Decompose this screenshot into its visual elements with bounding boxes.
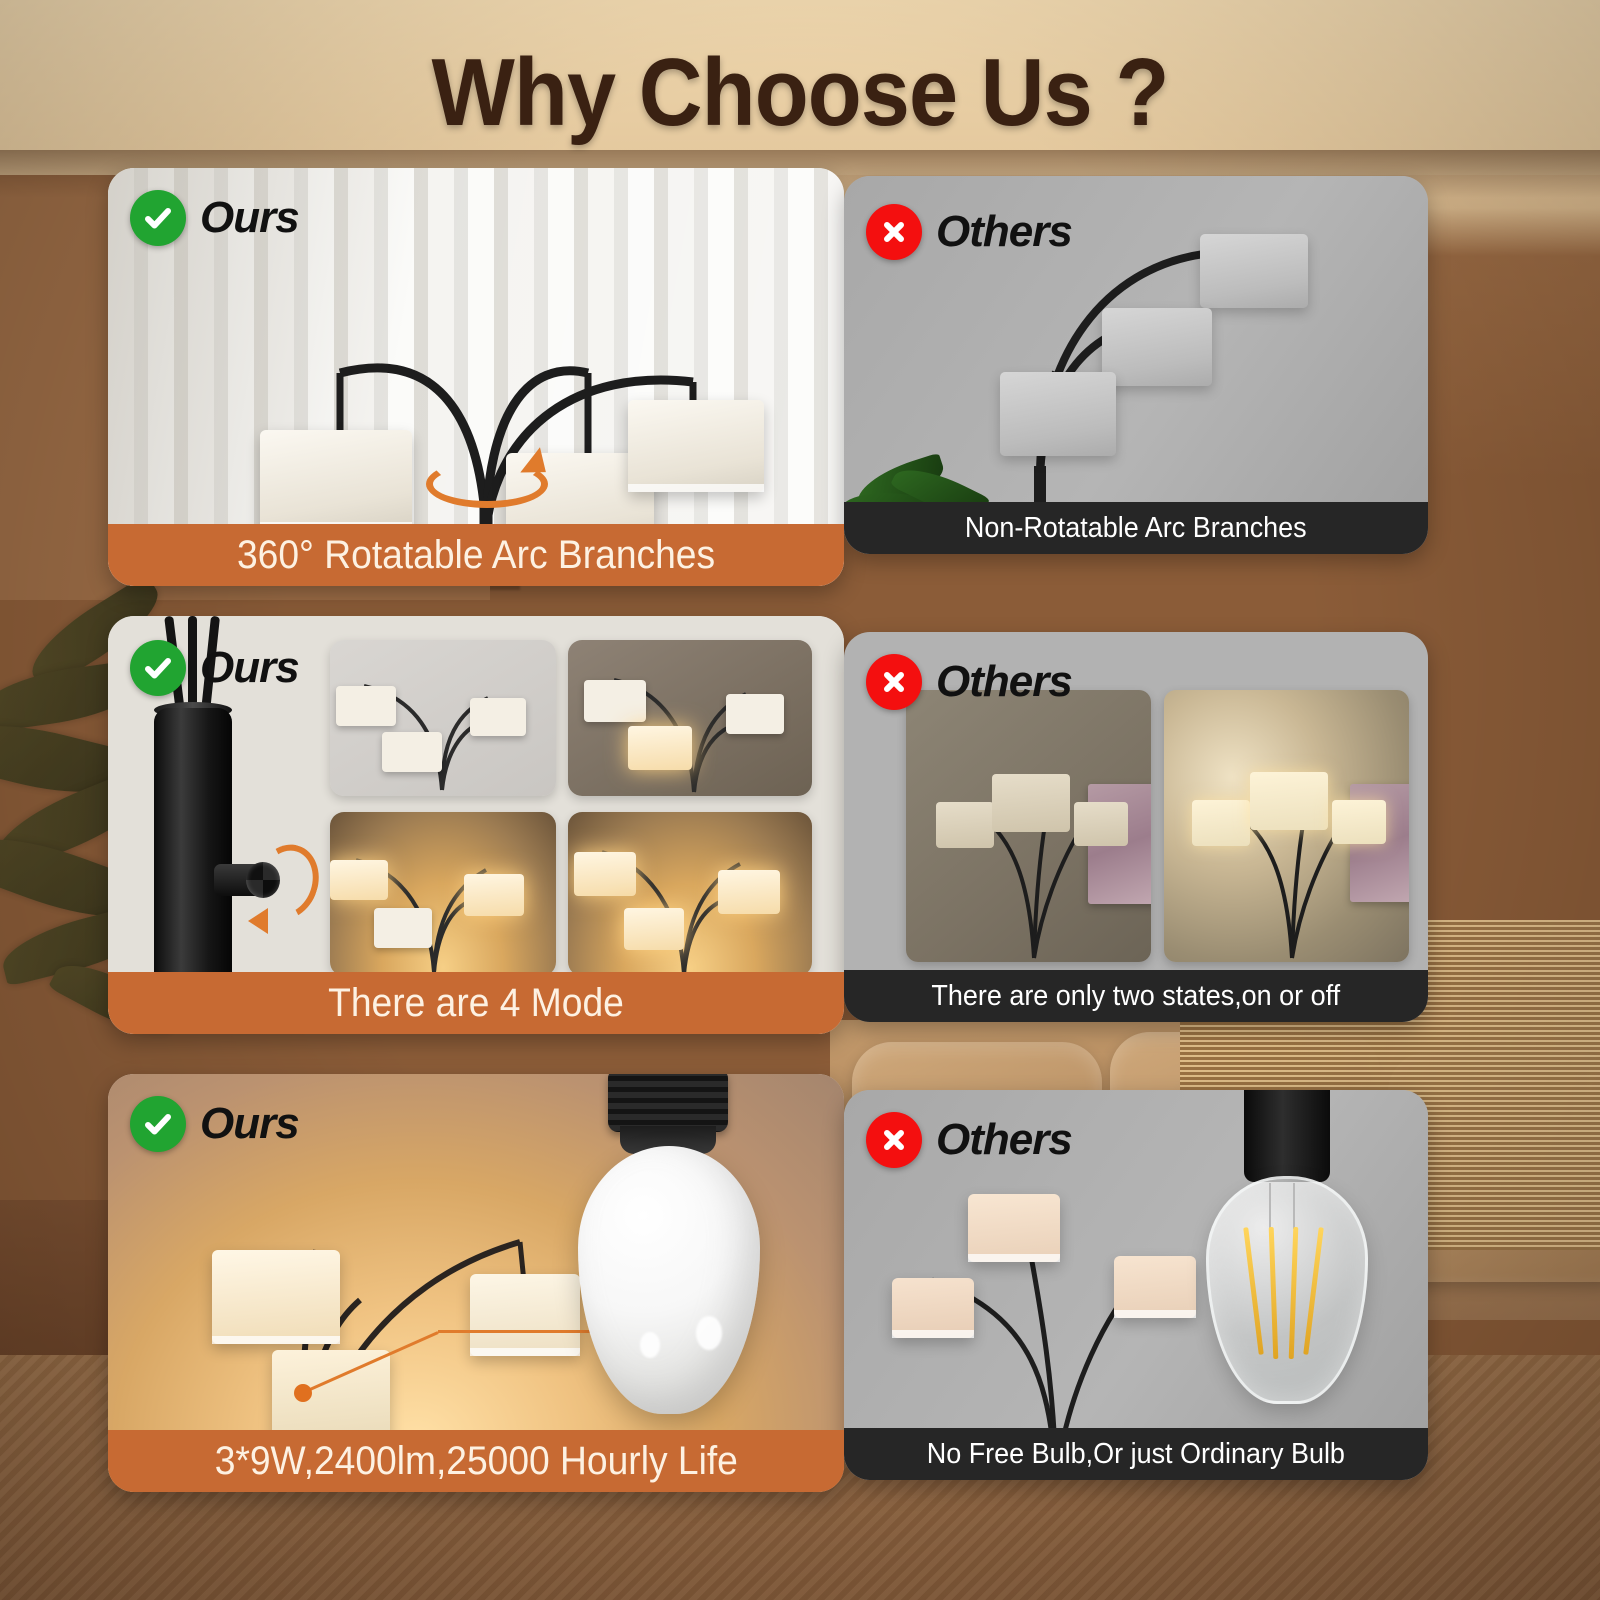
- cross-mark-icon: [866, 1112, 922, 1168]
- lamp-shade: [1114, 1256, 1196, 1318]
- comparison-card-others-bulb: Others No Free Bulb,Or just Ordinary Bul…: [844, 1090, 1428, 1480]
- caption-text: Non-Rotatable Arc Branches: [965, 512, 1307, 545]
- bulb-pointer-dot: [294, 1384, 312, 1402]
- cross-mark-icon: [866, 654, 922, 710]
- caption-ours-rotatable: 360° Rotatable Arc Branches: [108, 524, 844, 586]
- lamp-shade: [1000, 372, 1116, 456]
- badge-others: Others: [866, 1112, 1072, 1168]
- badge-ours: Ours: [130, 640, 299, 696]
- badge-label: Others: [936, 657, 1072, 707]
- caption-ours-bulb: 3*9W,2400lm,25000 Hourly Life: [108, 1430, 844, 1492]
- lamp-shade: [272, 1350, 390, 1440]
- badge-label: Ours: [200, 1099, 299, 1149]
- caption-text: There are 4 Mode: [328, 981, 624, 1026]
- check-mark-icon: [130, 190, 186, 246]
- badge-others: Others: [866, 204, 1072, 260]
- lamp-shade: [1102, 308, 1212, 386]
- lamp-shade: [892, 1278, 974, 1338]
- badge-others: Others: [866, 654, 1072, 710]
- page-title: Why Choose Us ?: [64, 38, 1536, 148]
- rotation-arrow-head-icon: [248, 908, 268, 934]
- comparison-card-ours-bulb: Ours 3*9W,2400lm,25000 Hourly Life: [108, 1074, 844, 1492]
- mode-thumbnail: [330, 640, 556, 796]
- caption-others-modes: There are only two states,on or off: [844, 970, 1428, 1022]
- check-mark-icon: [130, 1096, 186, 1152]
- caption-ours-modes: There are 4 Mode: [108, 972, 844, 1034]
- filament-bulb-base: [1244, 1090, 1330, 1182]
- mode-thumbnail: [568, 812, 812, 976]
- badge-label: Ours: [200, 643, 299, 693]
- check-mark-icon: [130, 640, 186, 696]
- lamp-shade: [1200, 234, 1308, 308]
- mode-thumbnail: [330, 812, 556, 976]
- badge-label: Others: [936, 1115, 1072, 1165]
- badge-label: Ours: [200, 193, 299, 243]
- caption-text: There are only two states,on or off: [932, 980, 1341, 1013]
- caption-text: No Free Bulb,Or just Ordinary Bulb: [927, 1438, 1345, 1471]
- lamp-shade: [968, 1194, 1060, 1262]
- cross-mark-icon: [866, 204, 922, 260]
- comparison-card-ours-modes: Ours There are 4 Mode: [108, 616, 844, 1034]
- led-bulb-base: [608, 1074, 728, 1132]
- lamp-shade: [260, 430, 412, 530]
- mode-thumbnail: [568, 640, 812, 796]
- badge-ours: Ours: [130, 1096, 299, 1152]
- comparison-card-others-modes: Others There are only two states,on or o…: [844, 632, 1428, 1022]
- lamp-shade: [628, 400, 764, 492]
- state-thumbnail-off: [906, 690, 1151, 962]
- comparison-card-ours-rotatable: Ours 360° Rotatable Arc Branches: [108, 168, 844, 586]
- badge-ours: Ours: [130, 190, 299, 246]
- caption-text: 360° Rotatable Arc Branches: [237, 533, 715, 578]
- lamp-shade: [212, 1250, 340, 1344]
- caption-others-bulb: No Free Bulb,Or just Ordinary Bulb: [844, 1428, 1428, 1480]
- comparison-card-others-rotatable: Others Non-Rotatable Arc Branches: [844, 176, 1428, 554]
- caption-others-rotatable: Non-Rotatable Arc Branches: [844, 502, 1428, 554]
- lamp-shade: [470, 1274, 580, 1356]
- badge-label: Others: [936, 207, 1072, 257]
- state-thumbnail-on: [1164, 690, 1409, 962]
- caption-text: 3*9W,2400lm,25000 Hourly Life: [214, 1439, 737, 1484]
